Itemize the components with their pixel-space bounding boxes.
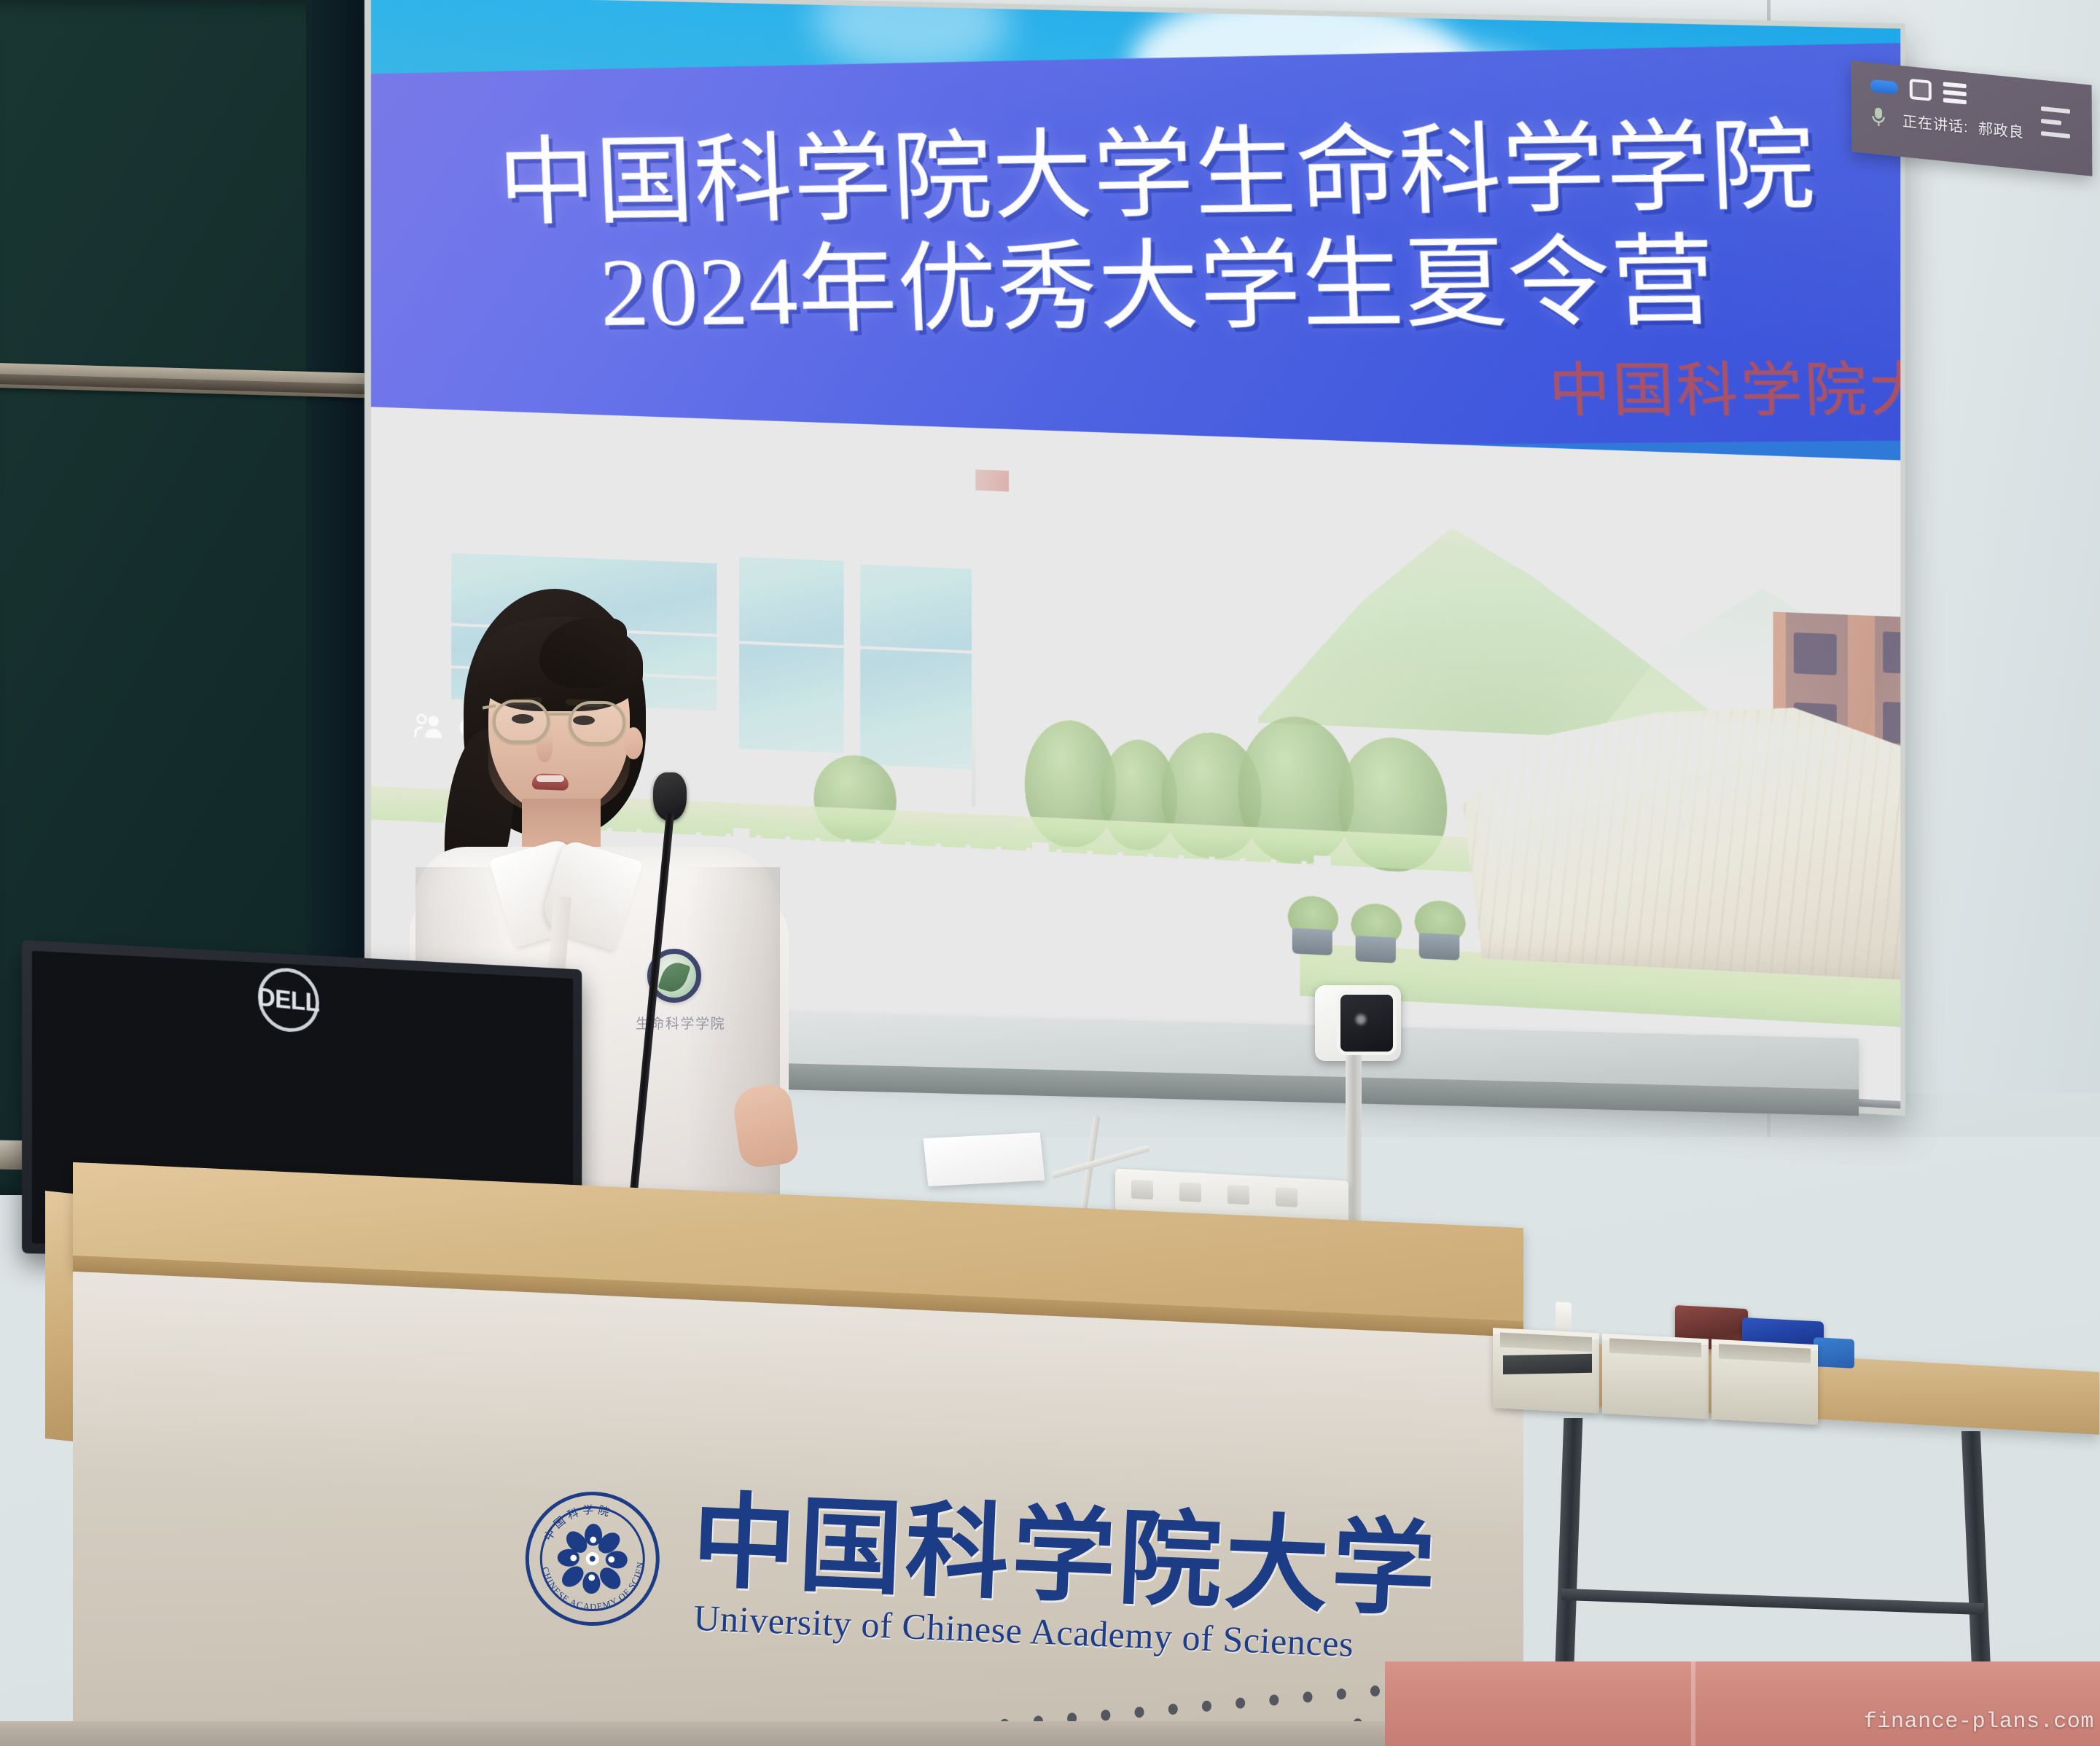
building-glass-panel bbox=[859, 565, 972, 770]
speaker-name: 郝政良 bbox=[1978, 120, 2024, 141]
speaking-label: 正在讲话: bbox=[1902, 114, 1969, 136]
lens-right bbox=[569, 701, 625, 745]
fence-post bbox=[1087, 850, 1092, 931]
teeth bbox=[536, 775, 564, 782]
dell-wordmark: DELL bbox=[257, 982, 319, 1018]
tower-glyph bbox=[1883, 702, 1900, 745]
side-table-rail bbox=[1561, 1589, 1984, 1615]
tower-glyph bbox=[1883, 631, 1900, 674]
eyeglasses bbox=[493, 698, 628, 746]
tower-glyph bbox=[1794, 633, 1837, 676]
toggle-pill-icon[interactable] bbox=[1870, 79, 1898, 94]
lecture-hall-scene: 中国科学院大学生命科学学院 2024年优秀大学生夏令营 bbox=[0, 0, 2100, 1746]
fence-post bbox=[1057, 849, 1062, 930]
tray-dark-insert bbox=[1503, 1354, 1592, 1374]
chalk-tray bbox=[1493, 1328, 1599, 1414]
photo-flag bbox=[975, 469, 1009, 491]
neck-shadow bbox=[522, 799, 601, 845]
nose bbox=[536, 735, 553, 762]
photo-stone-monument bbox=[1463, 694, 1901, 982]
seal-arc-text-ring: CHINESE ACADEMY OF SCIENCES 中国科学院 bbox=[523, 1489, 662, 1628]
layout-grid-icon[interactable] bbox=[1910, 79, 1932, 101]
fence-post bbox=[1148, 853, 1153, 934]
floor-strip-left bbox=[0, 1721, 1385, 1746]
chalk-tray-set bbox=[1493, 1301, 1828, 1450]
fence-post bbox=[1240, 858, 1245, 939]
hamburger-menu-icon[interactable] bbox=[2041, 106, 2070, 138]
photo-planter bbox=[1356, 936, 1396, 963]
fence-post bbox=[1179, 855, 1184, 936]
photo-flagpole bbox=[972, 458, 975, 807]
microphone-icon[interactable] bbox=[1870, 106, 1886, 129]
fence-post bbox=[1026, 847, 1031, 928]
tray-cavity bbox=[1719, 1344, 1811, 1363]
board-eraser-blue-second bbox=[1814, 1337, 1854, 1369]
fence-post bbox=[996, 846, 1001, 927]
fence-post bbox=[1117, 852, 1123, 933]
photo-planter bbox=[1419, 933, 1459, 960]
fence-post bbox=[966, 845, 971, 925]
podium: CHINESE ACADEMY OF SCIENCES 中国科学院 中国科学院大… bbox=[73, 1195, 1523, 1746]
monument-texture bbox=[1463, 694, 1901, 982]
fence-post bbox=[1209, 856, 1214, 937]
fence-post bbox=[1270, 859, 1276, 940]
participants-list-icon[interactable] bbox=[1943, 82, 1967, 104]
monument-inscription: 中国科学院大学 bbox=[1547, 342, 1900, 428]
watermark: finance-plans.com bbox=[1864, 1710, 2094, 1734]
slide-title-line-1: 中国科学院大学生命科学学院 bbox=[396, 108, 1900, 240]
building-pillar bbox=[973, 548, 999, 830]
ucas-seal-icon: CHINESE ACADEMY OF SCIENCES 中国科学院 bbox=[523, 1489, 662, 1628]
tray-cavity bbox=[1500, 1332, 1592, 1352]
chalk-tray bbox=[1602, 1334, 1709, 1420]
chalk-tray bbox=[1711, 1339, 1818, 1425]
slide-title: 中国科学院大学生命科学学院 2024年优秀大学生夏令营 bbox=[396, 108, 1900, 350]
fence-pillar bbox=[1032, 842, 1049, 933]
fence-post bbox=[875, 840, 881, 920]
fence-post bbox=[935, 843, 940, 923]
fence-post bbox=[905, 842, 910, 922]
svg-text:中国科学院: 中国科学院 bbox=[542, 1501, 614, 1546]
photo-planter bbox=[1292, 928, 1332, 955]
tray-cavity bbox=[1609, 1338, 1701, 1358]
camera-lens bbox=[1337, 991, 1397, 1055]
floor-tile-seam bbox=[1691, 1661, 1695, 1746]
camera-lens-glint bbox=[1356, 1014, 1366, 1025]
glasses-bridge bbox=[548, 713, 570, 716]
building-vertical-sign bbox=[1200, 612, 1214, 701]
paper-sheet bbox=[924, 1132, 1045, 1186]
slide-title-line-2: 2024年优秀大学生夏令营 bbox=[400, 223, 1900, 351]
speaking-status: 正在讲话: 郝政良 bbox=[1902, 109, 2024, 142]
